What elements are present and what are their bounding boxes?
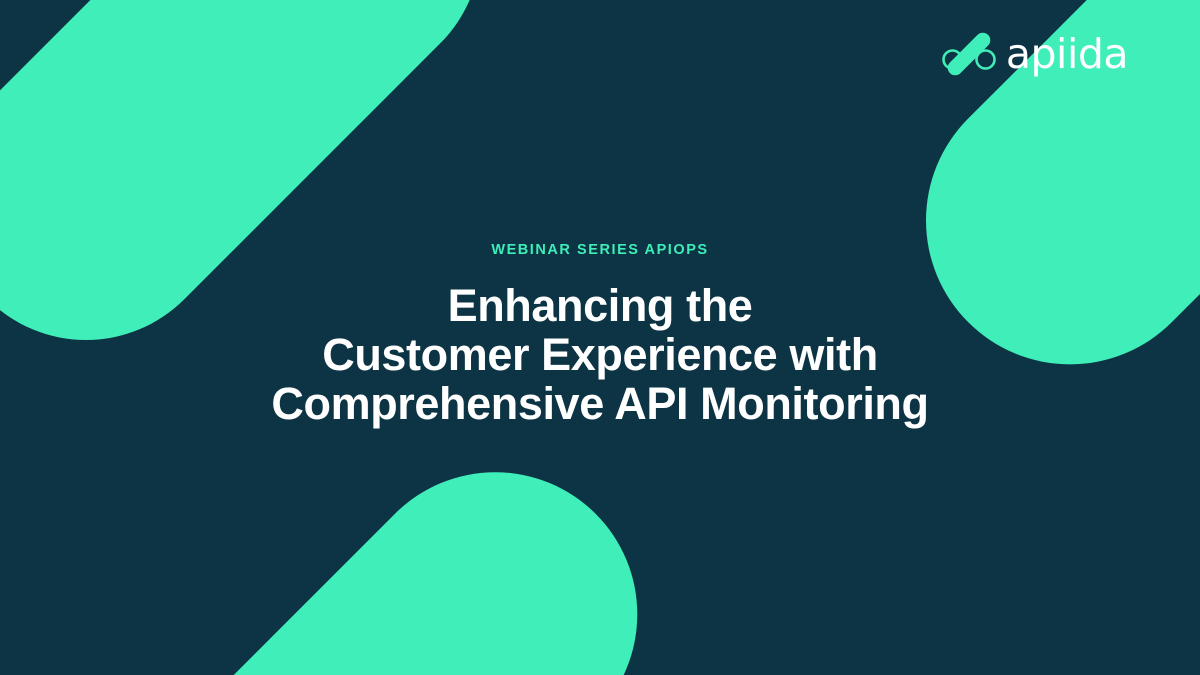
headline-line-1: Enhancing the <box>60 281 1140 330</box>
webinar-title-slide: apiida WEBINAR SERIES APIOPS Enhancing t… <box>0 0 1200 675</box>
apiida-wordmark: apiida <box>1006 34 1128 75</box>
eyebrow-label: WEBINAR SERIES APIOPS <box>60 243 1140 258</box>
apiida-logo-mark-icon <box>941 28 997 80</box>
apiida-logo: apiida <box>941 28 1128 80</box>
slide-content: WEBINAR SERIES APIOPS Enhancing the Cust… <box>0 243 1200 428</box>
headline-line-3: Comprehensive API Monitoring <box>60 379 1140 428</box>
page-title: Enhancing the Customer Experience with C… <box>60 281 1140 428</box>
capsule-bottom-center-shape <box>57 413 696 675</box>
headline-line-2: Customer Experience with <box>60 330 1140 379</box>
